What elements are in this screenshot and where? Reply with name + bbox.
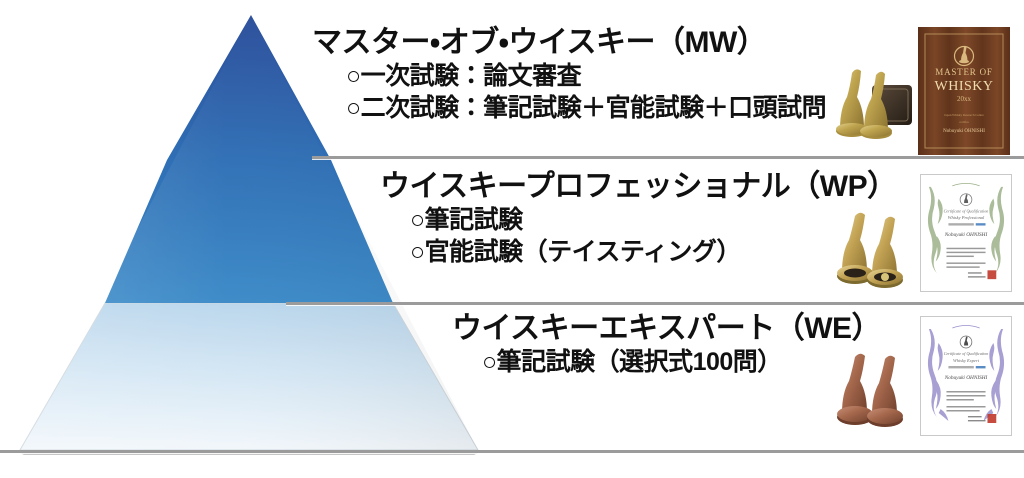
red-square-seal xyxy=(987,270,996,279)
tier-1-line-1: ○一次試験：論文審査 xyxy=(346,60,826,93)
certificate-jp-line xyxy=(948,366,985,368)
divider-tier-2-3 xyxy=(286,302,1024,305)
pyramid-tier-3 xyxy=(20,303,478,450)
divider-tier-1-2 xyxy=(312,156,1024,159)
certificate-heading-2: WHISKY xyxy=(935,79,994,94)
certificate-jp-line xyxy=(948,223,985,225)
pot-still-left xyxy=(837,213,873,284)
gold-pot-still-pin-icon xyxy=(828,206,920,294)
copper-pot-still-pin-icon xyxy=(828,347,920,435)
pot-still-left xyxy=(836,69,868,137)
tier-3-text-block: ウイスキーエキスパート（WE） ○筆記試験（選択式100問） xyxy=(452,312,881,378)
certificate-sub-line: Japan Whisky Research Centre xyxy=(944,113,984,117)
pot-still-right xyxy=(867,356,903,427)
certificate-heading-1: Certificate of Qualification xyxy=(944,208,989,213)
master-of-whisky-certificate: MASTER OF WHISKY 20xx Japan Whisky Resea… xyxy=(918,27,1010,155)
pyramid-tier-2 xyxy=(105,160,393,303)
divider-baseline xyxy=(0,450,1024,453)
gold-pot-still-pin-with-case-icon xyxy=(824,57,916,145)
certificate-heading-1: MASTER OF xyxy=(935,67,992,77)
certificate-heading-1: Certificate of Qualification xyxy=(944,351,989,356)
tier-1-text-block: マスター・オブ・ウイスキー（MW） ○一次試験：論文審査 ○二次試験：筆記試験＋… xyxy=(312,26,826,125)
slide-canvas: マスター・オブ・ウイスキー（MW） ○一次試験：論文審査 ○二次試験：筆記試験＋… xyxy=(0,0,1024,478)
pyramid-base-shadow xyxy=(20,453,478,455)
certificate-heading-2: Whisky Expert xyxy=(953,358,980,363)
certificate-heading-2: Whisky Professional xyxy=(948,215,985,220)
tier-2-line-2: ○官能試験（テイスティング） xyxy=(410,236,897,269)
tier-1-line-2: ○二次試験：筆記試験＋官能試験＋口頭試問 xyxy=(346,92,826,125)
red-square-seal xyxy=(987,414,996,423)
whisky-expert-certificate: Certificate of Qualification Whisky Expe… xyxy=(920,316,1012,436)
whisky-professional-certificate: Certificate of Qualification Whisky Prof… xyxy=(920,174,1012,292)
certificate-name-line: Nobuyuki OHNISHI xyxy=(944,232,988,238)
tier-3-title: ウイスキーエキスパート（WE） xyxy=(452,312,881,346)
certificate-recipient-line: certifies xyxy=(959,120,969,124)
tier-3-line-1: ○筆記試験（選択式100問） xyxy=(482,346,881,379)
tier-2-title: ウイスキープロフェッショナル（WP） xyxy=(380,170,897,204)
certificate-name-line: Nobuyuki OHNISHI xyxy=(943,129,985,134)
tier-2-text-block: ウイスキープロフェッショナル（WP） ○筆記試験 ○官能試験（テイスティング） xyxy=(380,170,897,269)
tier-2-line-1: ○筆記試験 xyxy=(410,204,897,237)
certificate-name-line: Nobuyuki OHNISHI xyxy=(944,375,988,381)
pyramid-tier-1 xyxy=(167,15,331,160)
pot-still-right xyxy=(867,217,903,288)
certificate-year: 20xx xyxy=(957,95,972,103)
tier-1-title: マスター・オブ・ウイスキー（MW） xyxy=(312,26,826,60)
